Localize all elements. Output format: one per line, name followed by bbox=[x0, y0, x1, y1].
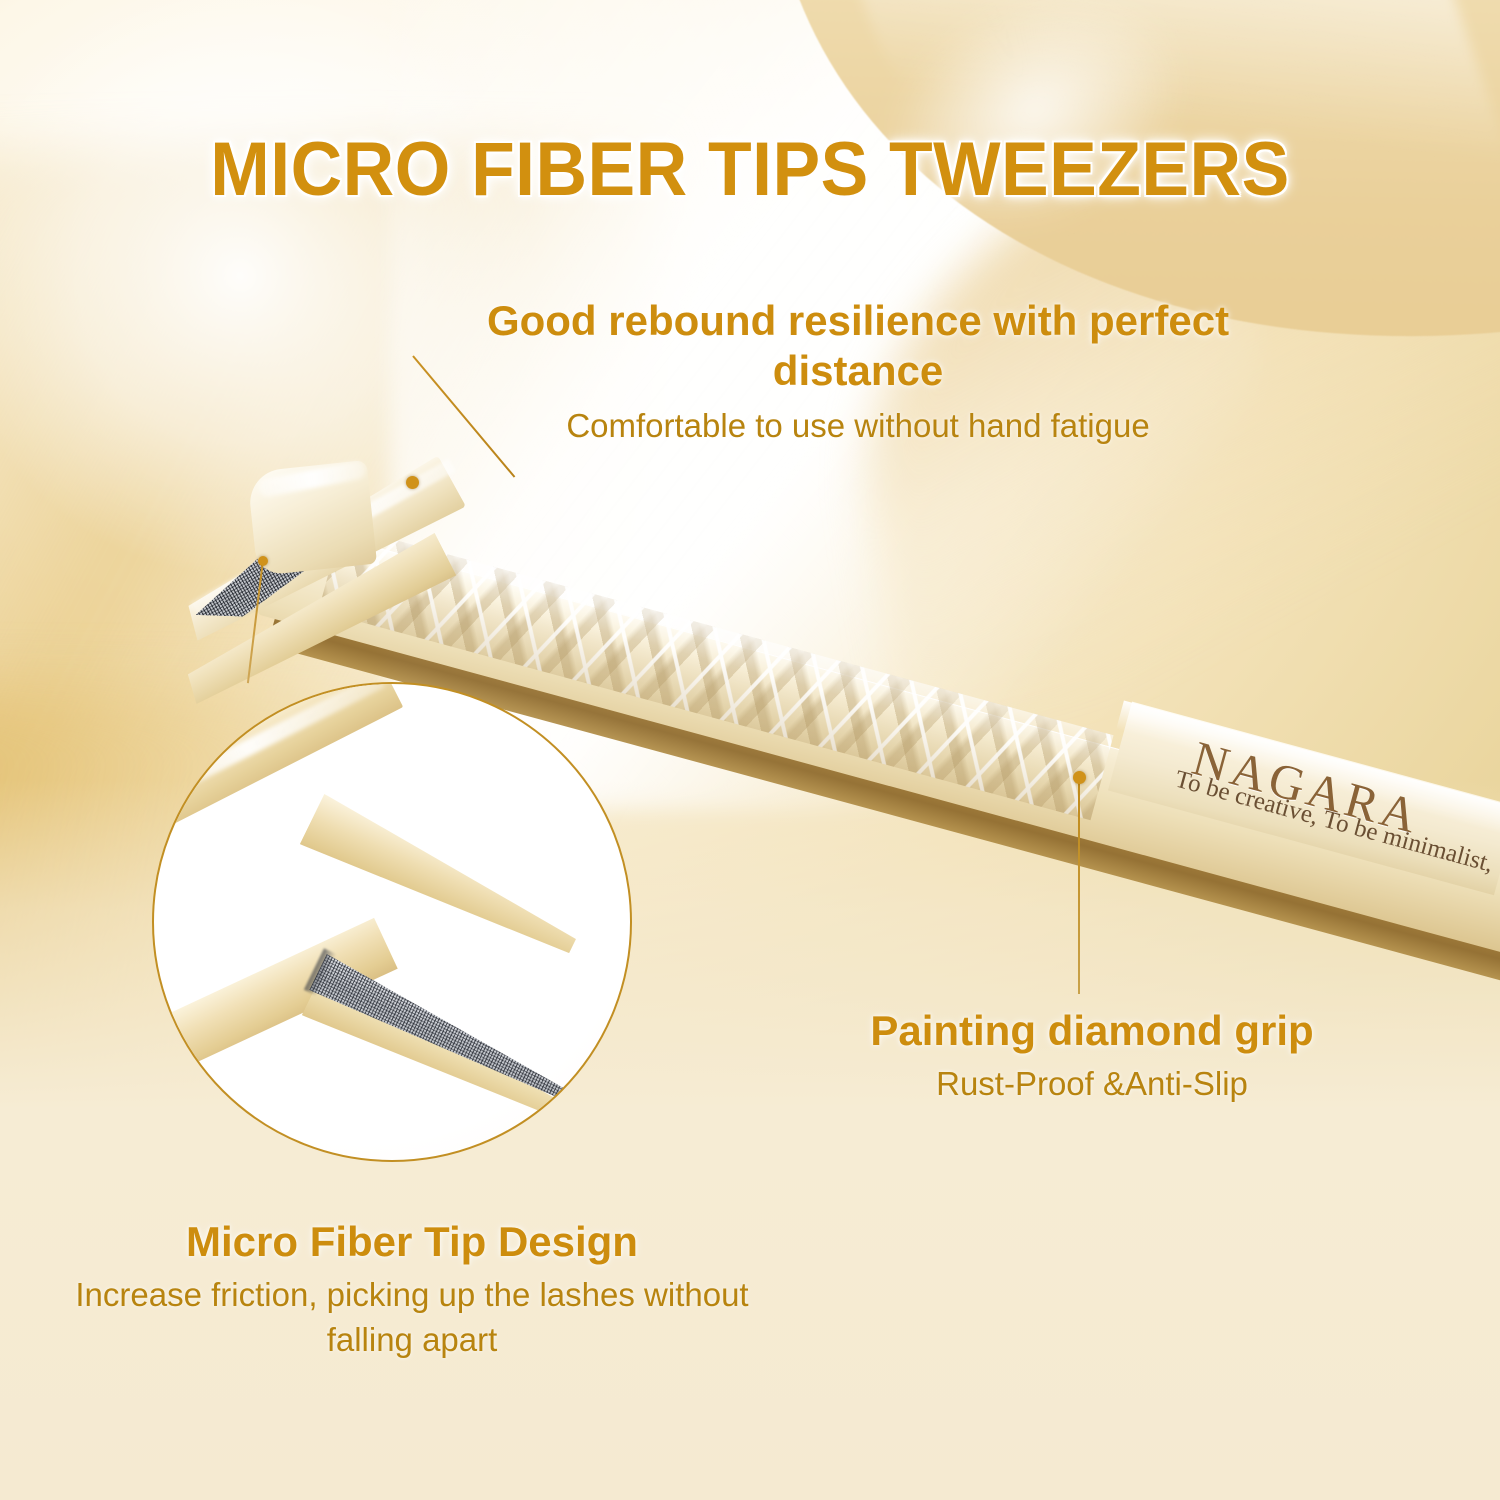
callout-diamond-grip: Painting diamond grip Rust-Proof &Anti-S… bbox=[812, 1006, 1372, 1106]
callout-fiber-tip: Micro Fiber Tip Design Increase friction… bbox=[72, 1216, 752, 1362]
leader-dot-fiber-tip bbox=[258, 556, 268, 566]
leader-dot-rebound bbox=[406, 476, 419, 489]
callout-fiber-tip-subheading: Increase friction, picking up the lashes… bbox=[72, 1272, 752, 1362]
leader-dot-diamond-grip bbox=[1073, 771, 1086, 784]
callout-rebound-heading: Good rebound resilience with perfect dis… bbox=[478, 296, 1238, 396]
callout-rebound-subheading: Comfortable to use without hand fatigue bbox=[478, 404, 1238, 448]
callout-fiber-tip-heading: Micro Fiber Tip Design bbox=[72, 1216, 752, 1268]
magnifier-circle bbox=[152, 682, 632, 1162]
leader-line-diamond-grip bbox=[1078, 782, 1080, 994]
callout-rebound: Good rebound resilience with perfect dis… bbox=[478, 296, 1238, 448]
product-infographic: MICRO FIBER TIPS TWEEZERS NAGARA To be c… bbox=[0, 0, 1500, 1500]
callout-diamond-grip-subheading: Rust-Proof &Anti-Slip bbox=[812, 1062, 1372, 1106]
magnified-micro-fiber-tip bbox=[309, 954, 596, 1121]
page-title: MICRO FIBER TIPS TWEEZERS bbox=[45, 126, 1455, 213]
callout-diamond-grip-heading: Painting diamond grip bbox=[812, 1006, 1372, 1056]
